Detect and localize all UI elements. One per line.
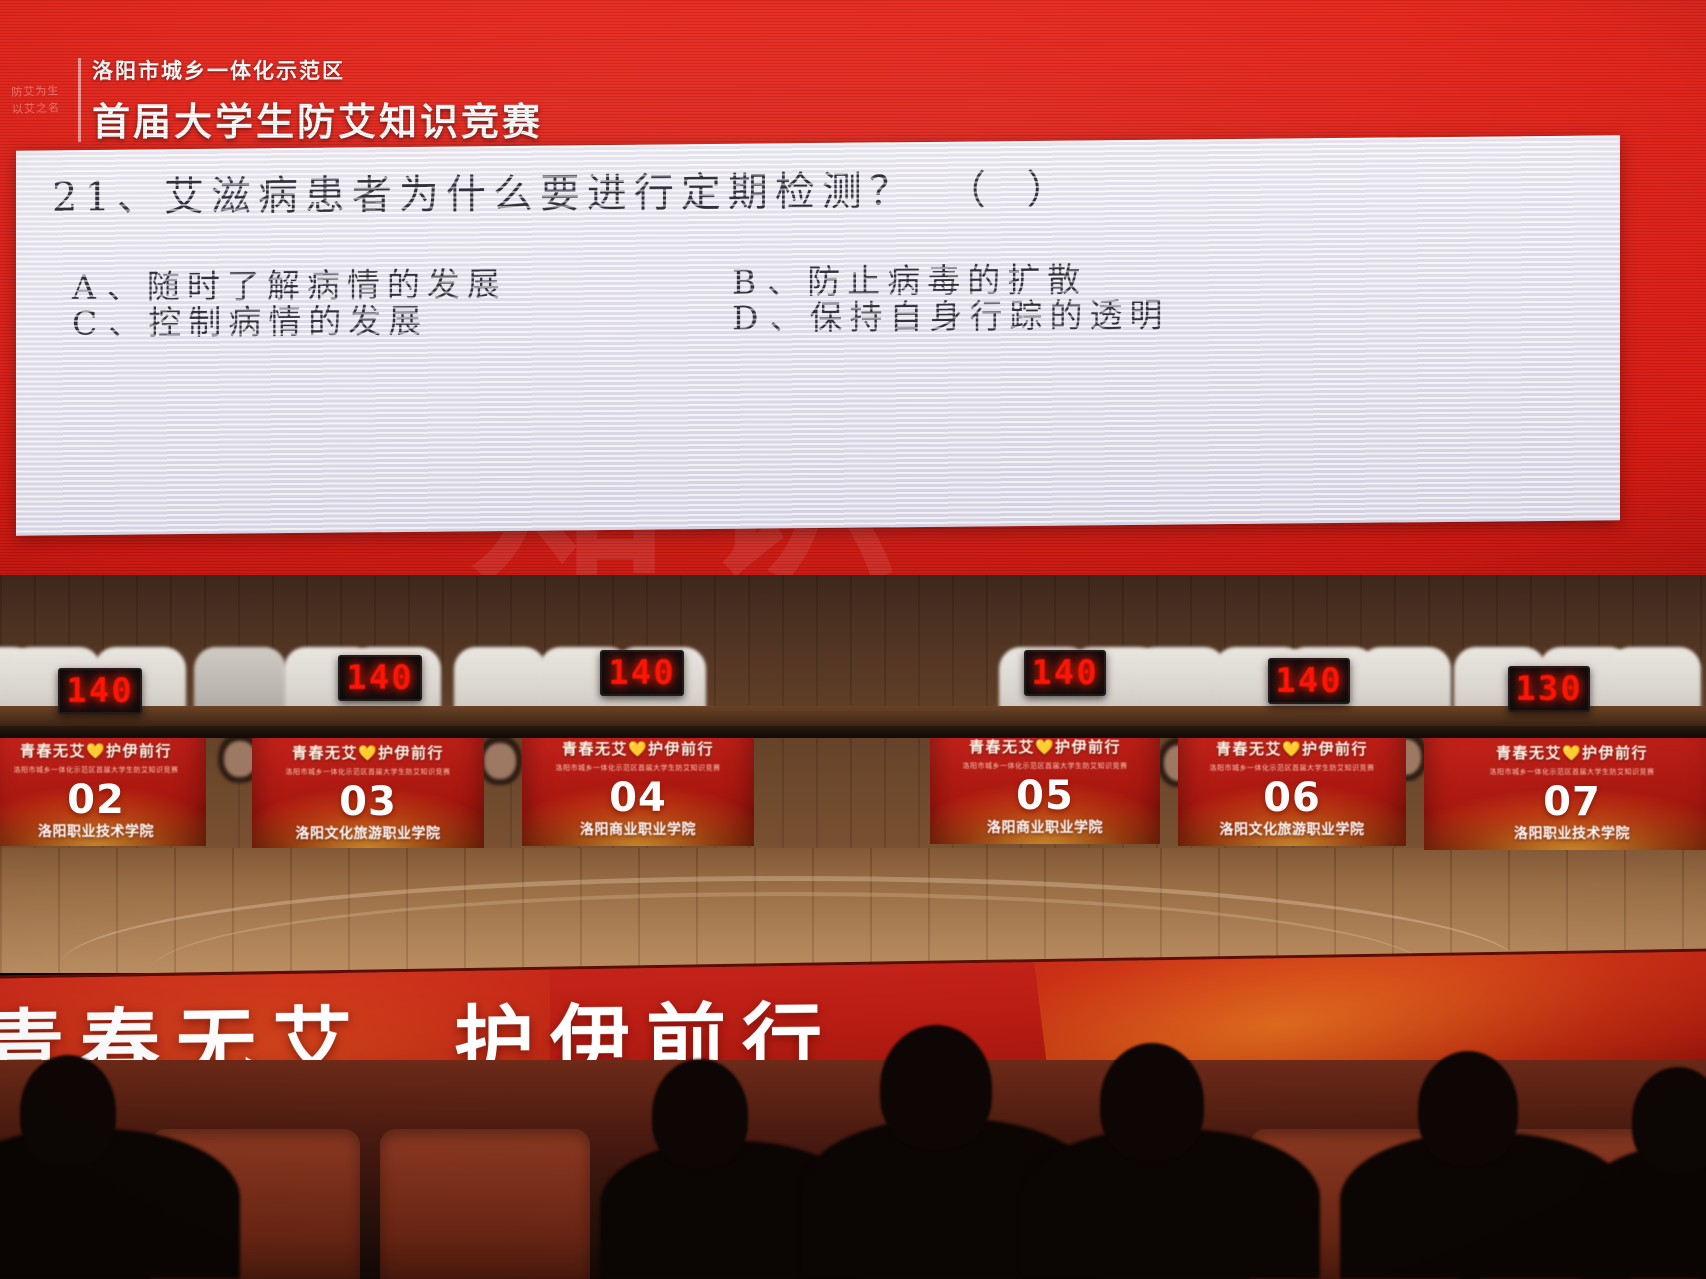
- team-number: 07: [1424, 779, 1706, 825]
- team-placard: 青春无艾💛护伊前行 洛阳市城乡一体化示范区首届大学生防艾知识竞赛 04 洛阳商业…: [522, 726, 754, 846]
- scoreboard-display: 130: [1508, 666, 1590, 712]
- scoreboard-display: 140: [338, 655, 422, 701]
- team-placard: 青春无艾💛护伊前行 洛阳市城乡一体化示范区首届大学生防艾知识竞赛 02 洛阳职业…: [0, 728, 206, 846]
- option-d-text: 保持自身行踪的透明: [809, 295, 1169, 337]
- question-line: 21、艾滋病患者为什么要进行定期检测？（ ）: [52, 157, 1081, 223]
- placard-slogan-left: 青春无艾: [1496, 744, 1562, 762]
- event-title-block: 洛阳市城乡一体化示范区 首届大学生防艾知识竞赛: [92, 55, 543, 146]
- scoreboard-display: 140: [600, 650, 684, 696]
- audience-seat: [380, 1129, 590, 1279]
- question-text: 艾滋病患者为什么要进行定期检测？: [164, 168, 916, 220]
- photo-stage: 知识 防艾为生以艾之名 洛阳市城乡一体化示范区 首届大学生防艾知识竞赛 21、艾…: [0, 0, 1706, 1279]
- team-placard: 青春无艾💛护伊前行 洛阳市城乡一体化示范区首届大学生防艾知识竞赛 07 洛阳职业…: [1424, 730, 1706, 850]
- placard-slogan-left: 青春无艾: [1216, 740, 1282, 758]
- scoreboard-value: 130: [1515, 669, 1582, 709]
- audience-member-head: [652, 1059, 748, 1169]
- ribbon-icon: 💛: [358, 744, 378, 762]
- placard-subtitle: 洛阳市城乡一体化示范区首届大学生防艾知识竞赛: [252, 767, 484, 777]
- team-number: 04: [522, 775, 754, 821]
- contestant-desk-edge: [0, 726, 1706, 738]
- option-d-key: D: [732, 298, 765, 337]
- placard-slogan-right: 护伊前行: [1302, 740, 1368, 758]
- placard-subtitle: 洛阳市城乡一体化示范区首届大学生防艾知识竞赛: [1424, 767, 1706, 777]
- placard-subtitle: 洛阳市城乡一体化示范区首届大学生防艾知识竞赛: [522, 763, 754, 773]
- placard-subtitle: 洛阳市城乡一体化示范区首届大学生防艾知识竞赛: [0, 765, 206, 775]
- scoreboard-value: 140: [346, 658, 413, 698]
- placard-slogan: 青春无艾💛护伊前行: [930, 736, 1160, 757]
- team-number: 06: [1178, 775, 1406, 821]
- option-c-sep: 、: [108, 303, 148, 342]
- question-slide: 21、艾滋病患者为什么要进行定期检测？（ ） A、随时了解病情的发展 B、防止病…: [16, 135, 1620, 535]
- team-number: 03: [252, 779, 484, 825]
- option-d-sep: 、: [769, 298, 809, 337]
- placard-slogan-right: 护伊前行: [106, 742, 172, 760]
- placard-slogan-left: 青春无艾: [969, 738, 1035, 756]
- placard-slogan-right: 护伊前行: [378, 744, 444, 762]
- scoreboard-display: 140: [1024, 650, 1106, 696]
- options-grid: A、随时了解病情的发展 B、防止病毒的扩散 C、控制病情的发展 D、保持自身行踪…: [72, 256, 1472, 339]
- event-title: 首届大学生防艾知识竞赛: [92, 91, 543, 146]
- option-c: C、控制病情的发展: [72, 292, 732, 345]
- ribbon-icon: 💛: [86, 742, 106, 760]
- scoreboard-display: 140: [58, 668, 142, 714]
- placard-slogan-right: 护伊前行: [1582, 744, 1648, 762]
- question-number: 21、: [52, 174, 164, 221]
- team-school: 洛阳商业职业学院: [930, 817, 1160, 837]
- placard-slogan-left: 青春无艾: [562, 740, 628, 758]
- scoreboard-value: 140: [66, 671, 133, 711]
- team-school: 洛阳职业技术学院: [0, 821, 206, 841]
- option-d: D、保持自身行踪的透明: [732, 288, 1169, 339]
- team-number: 05: [930, 773, 1160, 819]
- audience-member-head: [20, 1055, 116, 1167]
- audience-area: [0, 1060, 1706, 1279]
- placard-subtitle: 洛阳市城乡一体化示范区首届大学生防艾知识竞赛: [930, 761, 1160, 771]
- brand-logo-icon: 防艾为生以艾之名: [5, 83, 67, 133]
- ribbon-icon: 💛: [628, 740, 648, 758]
- team-school: 洛阳文化旅游职业学院: [252, 823, 484, 843]
- team-placard: 青春无艾💛护伊前行 洛阳市城乡一体化示范区首届大学生防艾知识竞赛 03 洛阳文化…: [252, 730, 484, 848]
- team-school: 洛阳职业技术学院: [1424, 823, 1706, 843]
- placard-slogan: 青春无艾💛护伊前行: [252, 742, 484, 763]
- audience-member-head: [1100, 1043, 1204, 1161]
- placard-subtitle: 洛阳市城乡一体化示范区首届大学生防艾知识竞赛: [1178, 763, 1406, 773]
- placard-slogan-right: 护伊前行: [1055, 738, 1121, 756]
- scoreboard-value: 140: [608, 653, 675, 693]
- option-c-key: C: [72, 304, 104, 343]
- team-placard: 青春无艾💛护伊前行 洛阳市城乡一体化示范区首届大学生防艾知识竞赛 06 洛阳文化…: [1178, 726, 1406, 846]
- placard-slogan-left: 青春无艾: [20, 742, 86, 760]
- audience-member-head: [880, 1025, 992, 1149]
- team-school: 洛阳商业职业学院: [522, 819, 754, 839]
- placard-slogan: 青春无艾💛护伊前行: [0, 740, 206, 761]
- ribbon-icon: 💛: [1282, 740, 1302, 758]
- team-number: 02: [0, 777, 206, 823]
- team-placard: 青春无艾💛护伊前行 洛阳市城乡一体化示范区首届大学生防艾知识竞赛 05 洛阳商业…: [930, 724, 1160, 844]
- ribbon-icon: 💛: [1562, 744, 1582, 762]
- audience-member-head: [1632, 1067, 1706, 1173]
- scoreboard-value: 140: [1275, 661, 1342, 701]
- organizer-line: 洛阳市城乡一体化示范区: [92, 55, 543, 85]
- audience-member-head: [1418, 1051, 1518, 1165]
- scoreboard-display: 140: [1268, 658, 1350, 704]
- ribbon-icon: 💛: [1035, 738, 1055, 756]
- answer-blank: （ ）: [946, 167, 1081, 214]
- team-school: 洛阳文化旅游职业学院: [1178, 819, 1406, 839]
- header-divider: [78, 58, 81, 142]
- placard-slogan: 青春无艾💛护伊前行: [1178, 738, 1406, 759]
- placard-slogan-left: 青春无艾: [292, 744, 358, 762]
- option-c-text: 控制病情的发展: [148, 301, 428, 342]
- placard-slogan: 青春无艾💛护伊前行: [522, 738, 754, 759]
- placard-slogan: 青春无艾💛护伊前行: [1424, 742, 1706, 763]
- placard-slogan-right: 护伊前行: [648, 740, 714, 758]
- scoreboard-value: 140: [1031, 653, 1098, 693]
- options-row-cd: C、控制病情的发展 D、保持自身行踪的透明: [72, 292, 1472, 339]
